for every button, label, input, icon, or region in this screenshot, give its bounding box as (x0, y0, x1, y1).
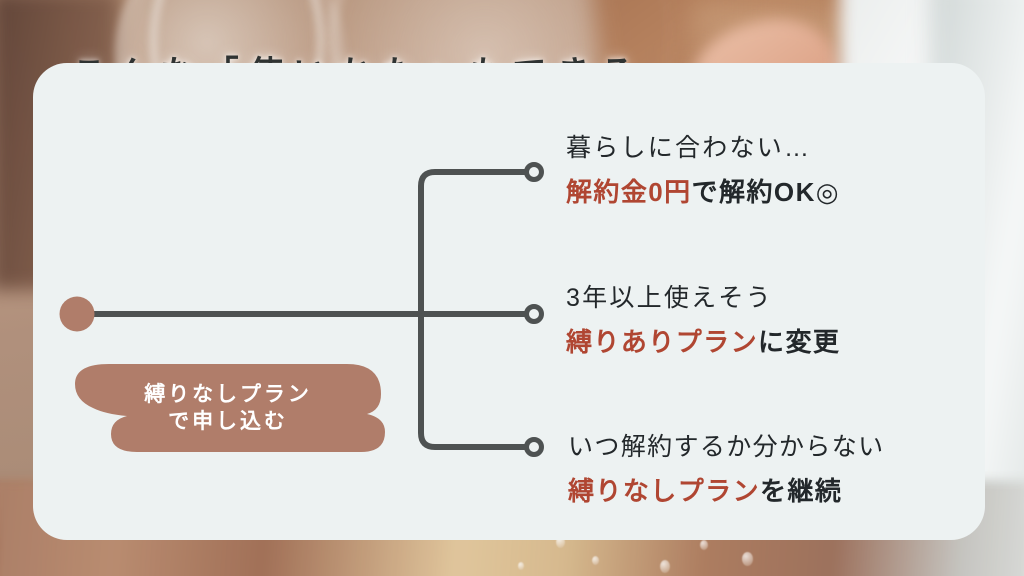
slide-canvas: こんな「使いかた」もできる 縛りなしプラン で申し込む 暮らしに合わない… 解約… (0, 0, 1024, 576)
branch-item-1: 暮らしに合わない… 解約金0円で解約OK◎ (566, 133, 986, 209)
start-node-dot (60, 297, 95, 332)
branch-main-3: 縛りなしプランを継続 (568, 475, 988, 508)
endpoint-dot-2 (527, 307, 542, 322)
branch-line-1 (421, 172, 530, 314)
branch-line-3 (421, 314, 530, 447)
branch-highlight-2: 縛りありプラン (566, 327, 758, 357)
start-node-badge[interactable]: 縛りなしプラン で申し込む (75, 364, 385, 452)
branch-lead-1: 暮らしに合わない… (566, 133, 986, 164)
branch-highlight-1: 解約金0円 (566, 177, 692, 207)
badge-line-1: 縛りなしプラン (144, 381, 312, 408)
branch-main-1: 解約金0円で解約OK◎ (566, 176, 986, 209)
branch-main-2: 縛りありプランに変更 (566, 326, 986, 359)
branch-item-3: いつ解約するか分からない 縛りなしプランを継続 (568, 432, 988, 508)
branch-rest-3: を継続 (760, 476, 842, 506)
endpoint-dot-3 (527, 440, 542, 455)
endpoint-dot-1 (527, 165, 542, 180)
badge-label: 縛りなしプラン で申し込む (75, 364, 385, 452)
branch-lead-3: いつ解約するか分からない (568, 432, 988, 463)
branch-lead-2: 3年以上使えそう (566, 283, 986, 314)
branch-rest-2: に変更 (758, 327, 840, 357)
branch-item-2: 3年以上使えそう 縛りありプランに変更 (566, 283, 986, 359)
badge-line-2: で申し込む (168, 408, 288, 435)
branch-rest-1: で解約OK◎ (692, 177, 840, 207)
branch-highlight-3: 縛りなしプラン (568, 476, 760, 506)
